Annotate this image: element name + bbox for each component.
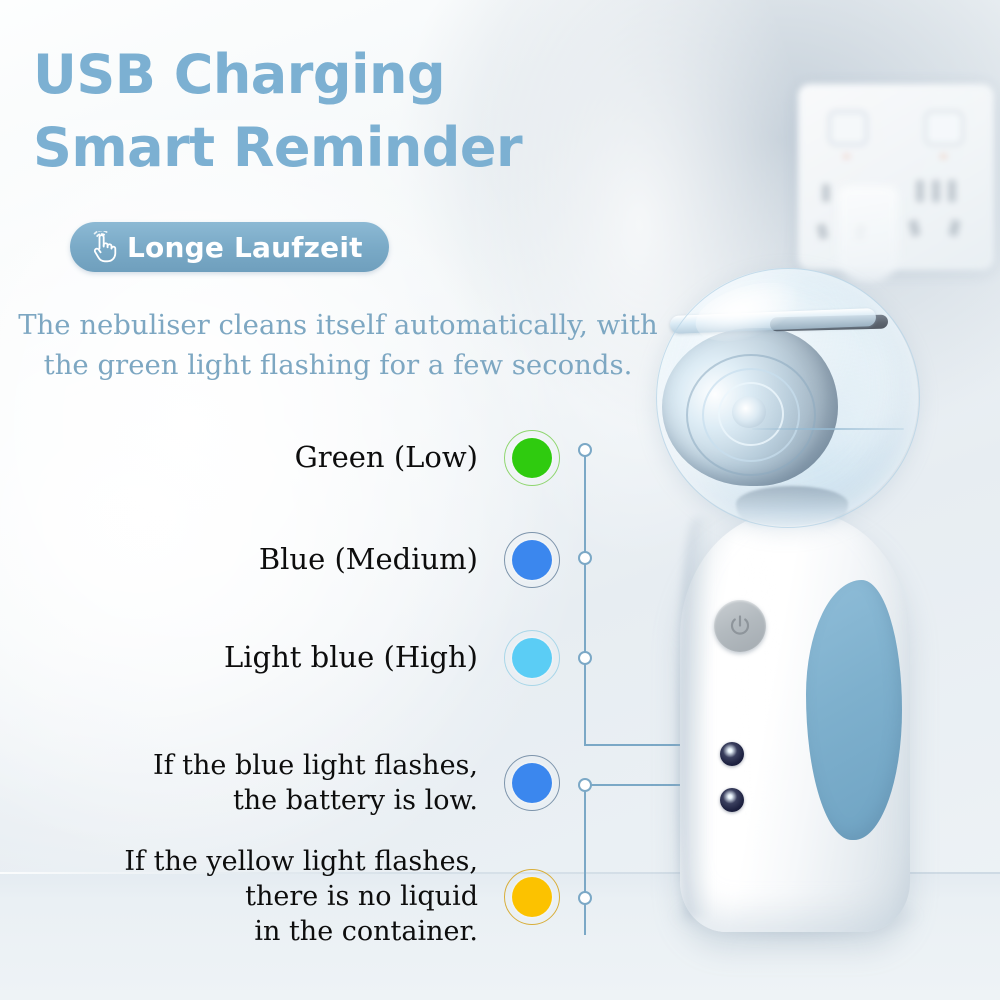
- device-reservoir: [620, 250, 980, 550]
- status-dot-blue-battery: [504, 755, 560, 811]
- legend-label-battery-low: If the blue light flashes, the battery i…: [153, 748, 504, 818]
- socket-pin: [916, 180, 924, 202]
- led-indicator-lower: [720, 788, 744, 812]
- device-accent-panel: [806, 580, 902, 840]
- legend-row-blue-medium: Blue (Medium): [0, 532, 560, 588]
- socket-pin: [908, 219, 921, 237]
- socket-neon-left: [843, 154, 850, 159]
- power-icon: [727, 613, 753, 639]
- status-dot-ring: [504, 755, 560, 811]
- legend-text-line: the battery is low.: [153, 783, 478, 818]
- status-dot-light-blue: [504, 630, 560, 686]
- legend-row-no-liquid: If the yellow light flashes, there is no…: [0, 844, 560, 949]
- socket-rocker-left: [828, 110, 868, 146]
- legend-row-green-low: Green (Low): [0, 430, 560, 486]
- device-body-shade: [678, 518, 712, 918]
- socket-neon-right: [940, 154, 947, 159]
- socket-pin: [948, 219, 961, 237]
- legend-text-line: there is no liquid: [124, 879, 478, 914]
- device-body-highlight: [736, 528, 778, 858]
- legend-text-line: Green (Low): [295, 439, 478, 477]
- legend-label-blue-medium: Blue (Medium): [259, 541, 504, 579]
- status-dot-blue: [504, 532, 560, 588]
- status-dot-ring: [504, 869, 560, 925]
- status-dot-ring: [504, 630, 560, 686]
- legend-label-no-liquid: If the yellow light flashes, there is no…: [124, 844, 504, 949]
- status-dot-yellow: [504, 869, 560, 925]
- legend-text-line: Blue (Medium): [259, 541, 478, 579]
- product-infographic: USB Charging Smart Reminder Longe Laufze…: [0, 0, 1000, 1000]
- led-indicator-upper: [720, 742, 744, 766]
- legend-text-line: Light blue (High): [224, 639, 478, 677]
- socket-rocker-right: [924, 110, 964, 146]
- legend-row-lightblue-high: Light blue (High): [0, 630, 560, 686]
- legend-label-lightblue-high: Light blue (High): [224, 639, 504, 677]
- socket-pin: [932, 180, 940, 202]
- legend-text-line: If the blue light flashes,: [153, 748, 478, 783]
- status-dot-ring: [504, 430, 560, 486]
- socket-pin: [816, 223, 828, 240]
- legend-row-battery-low: If the blue light flashes, the battery i…: [0, 748, 560, 818]
- power-button[interactable]: [714, 600, 766, 652]
- legend-text-line: If the yellow light flashes,: [124, 844, 478, 879]
- status-dot-green: [504, 430, 560, 486]
- legend-text-line: in the container.: [124, 914, 478, 949]
- legend-label-green-low: Green (Low): [295, 439, 504, 477]
- handheld-mesh-nebuliser: [620, 250, 980, 990]
- status-dot-ring: [504, 532, 560, 588]
- socket-pin: [948, 180, 956, 202]
- status-legend: Green (Low) Blue (Medium) Light blue (Hi…: [0, 0, 560, 1000]
- socket-pin: [822, 184, 830, 202]
